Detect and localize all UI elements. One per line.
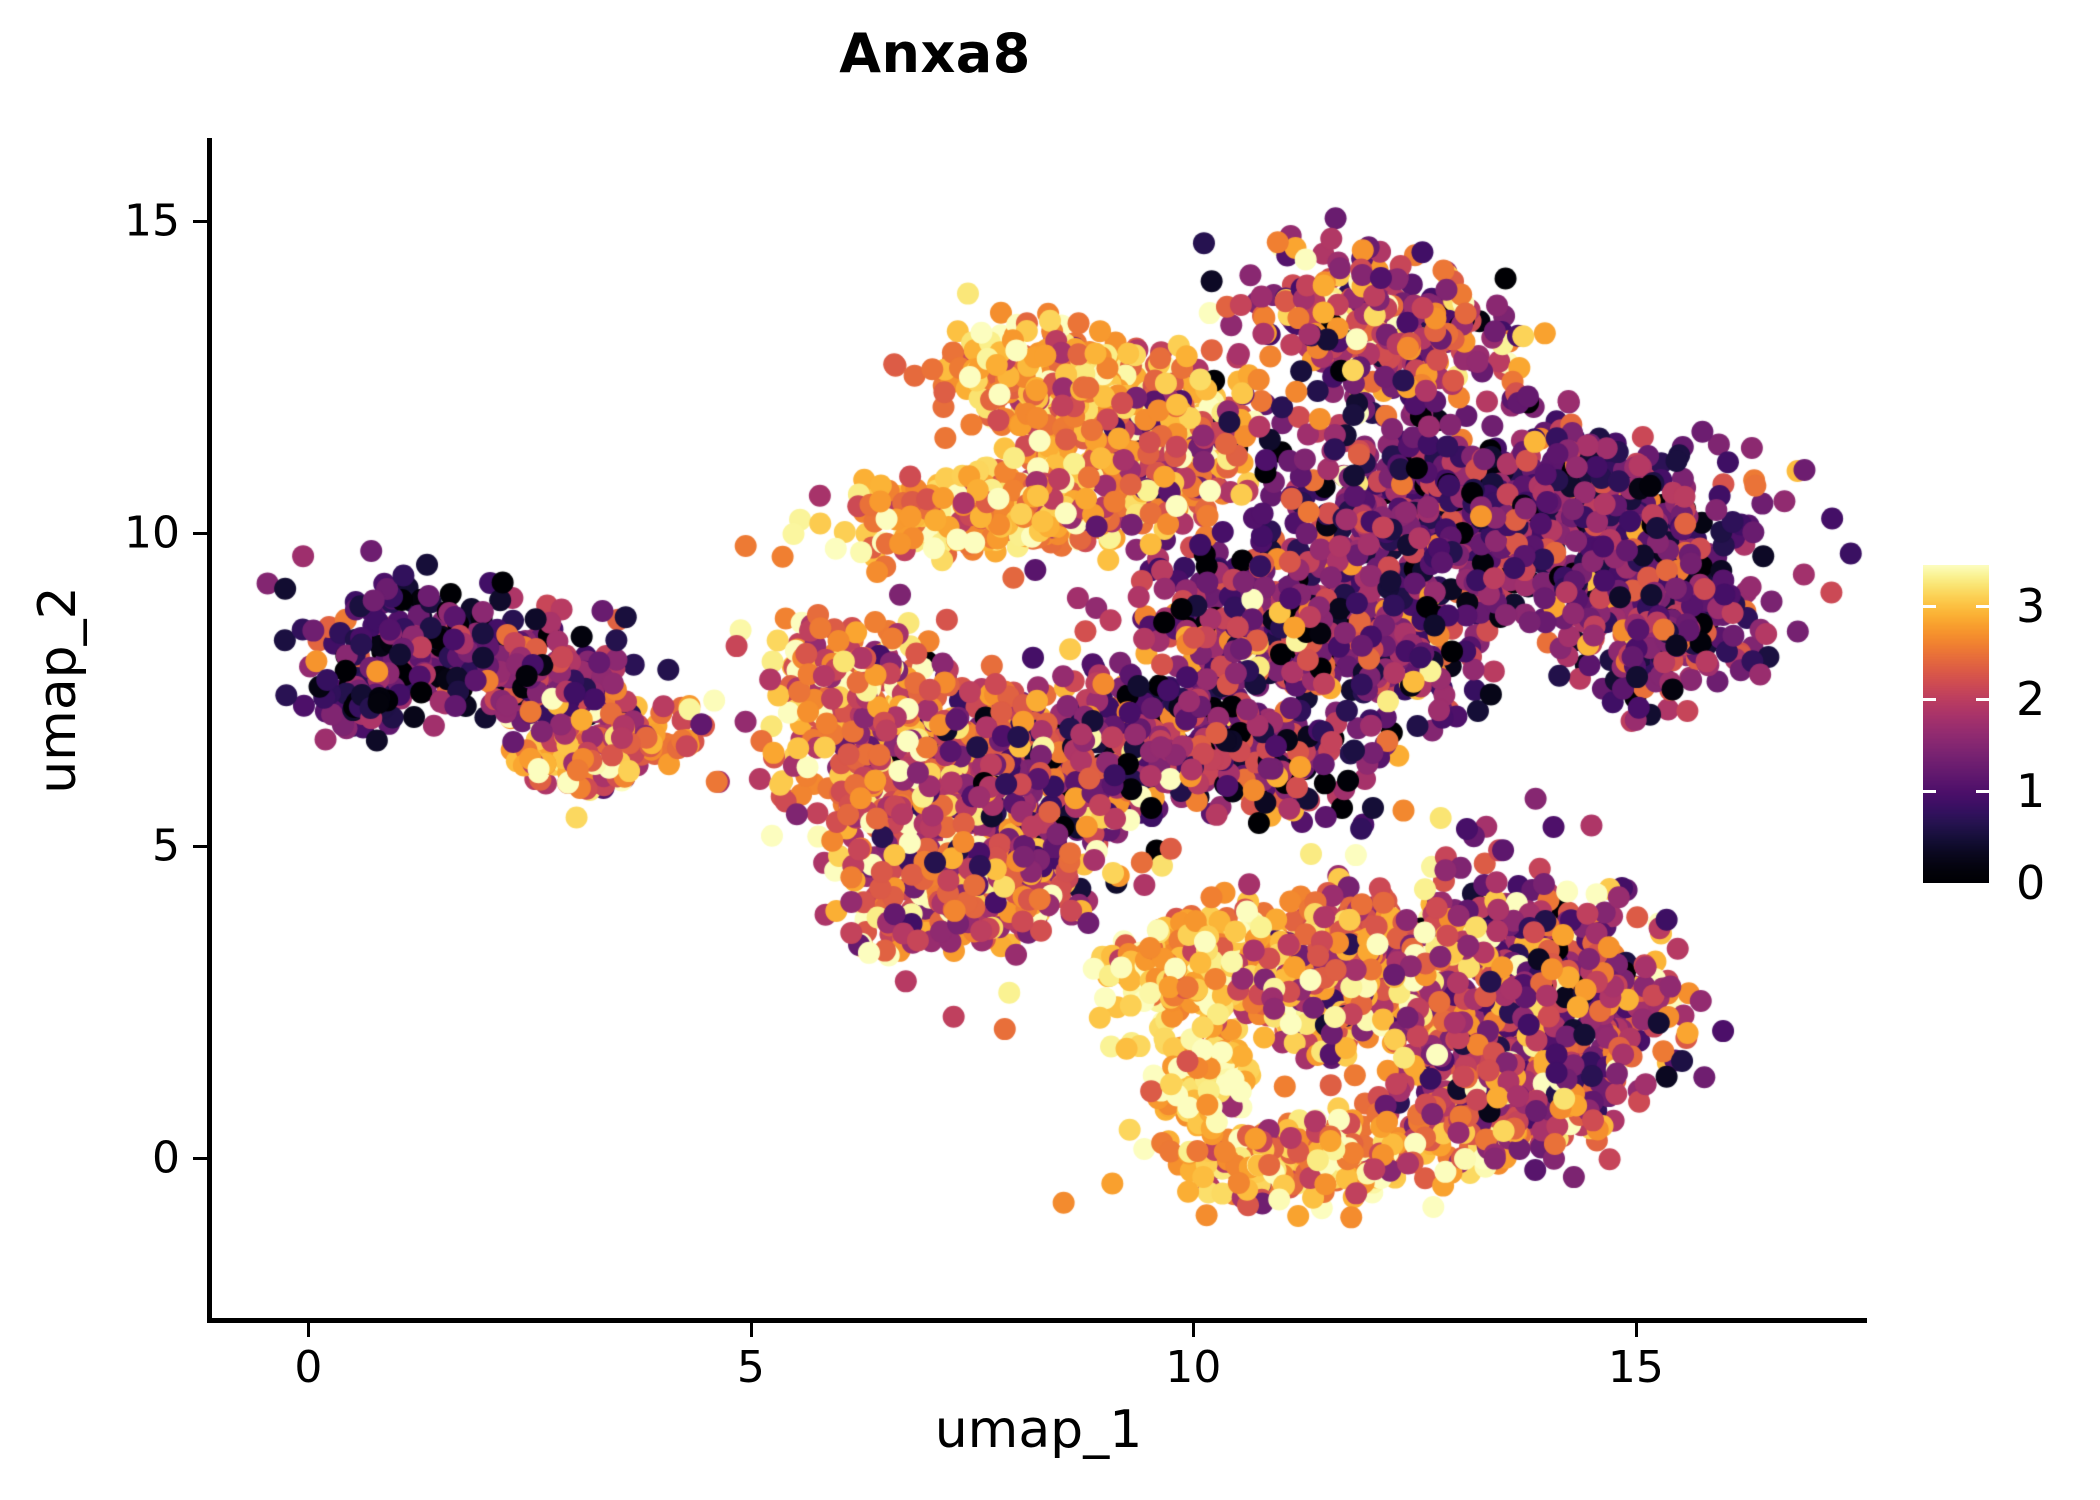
y-axis-spine bbox=[207, 138, 212, 1323]
colorbar-tick-mark bbox=[1923, 605, 1936, 608]
x-tick-mark bbox=[1635, 1323, 1638, 1337]
colorbar-tick-mark bbox=[1976, 698, 1989, 701]
colorbar-tick-label: 3 bbox=[2016, 579, 2045, 633]
page-title: Anxa8 bbox=[0, 22, 1870, 85]
x-tick-label: 10 bbox=[1165, 1342, 1221, 1393]
y-tick-mark bbox=[193, 845, 207, 848]
y-tick-label: 15 bbox=[60, 196, 180, 247]
x-tick-mark bbox=[307, 1323, 310, 1337]
x-tick-label: 5 bbox=[737, 1342, 765, 1393]
scatter-points-layer bbox=[211, 140, 1866, 1320]
x-tick-label: 0 bbox=[294, 1342, 322, 1393]
colorbar-tick-label: 0 bbox=[2016, 856, 2045, 910]
umap-feature-plot: Anxa8 051015051015 umap_1 umap_2 0123 bbox=[0, 0, 2100, 1500]
colorbar-tick-mark bbox=[1976, 605, 1989, 608]
y-axis-label: umap_2 bbox=[28, 390, 88, 990]
colorbar-tick-mark bbox=[1976, 790, 1989, 793]
y-tick-mark bbox=[193, 532, 207, 535]
colorbar-tick-label: 2 bbox=[2016, 672, 2045, 726]
colorbar-tick-mark bbox=[1923, 698, 1936, 701]
x-axis-label: umap_1 bbox=[211, 1400, 1866, 1460]
colorbar-tick-mark bbox=[1923, 790, 1936, 793]
y-tick-mark bbox=[193, 1157, 207, 1160]
colorbar-gradient bbox=[1923, 565, 1989, 883]
y-tick-mark bbox=[193, 220, 207, 223]
x-tick-label: 15 bbox=[1608, 1342, 1664, 1393]
colorbar-tick-label: 1 bbox=[2016, 764, 2045, 818]
y-tick-label: 0 bbox=[60, 1132, 180, 1183]
x-axis-spine bbox=[207, 1318, 1867, 1323]
plot-area bbox=[211, 140, 1866, 1320]
x-tick-mark bbox=[1192, 1323, 1195, 1337]
x-tick-mark bbox=[750, 1323, 753, 1337]
